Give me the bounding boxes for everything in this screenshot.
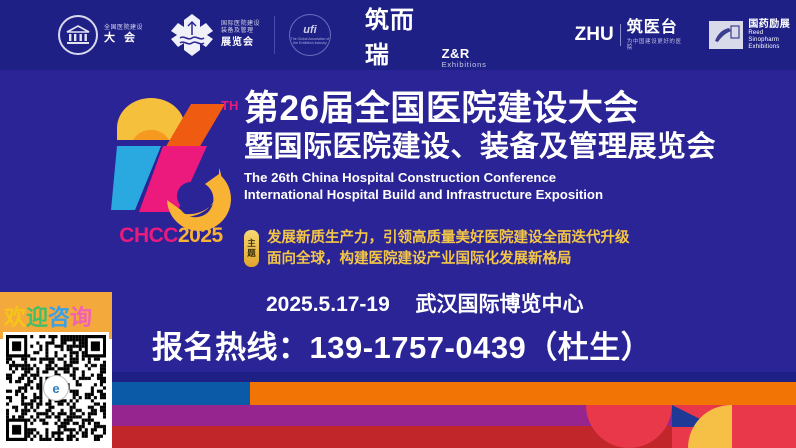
reed-sinopharm-icon bbox=[709, 21, 743, 49]
welcome-char-4: 询 bbox=[70, 305, 92, 330]
main-title-cn-line2: 暨国际医院建设、装备及管理展览会 bbox=[244, 131, 704, 163]
ufi-abbr: ufi bbox=[303, 25, 316, 36]
conference-emblem-line1: 全国医院建设 bbox=[104, 25, 143, 31]
hotline-label: 报名热线： bbox=[152, 330, 310, 365]
date-venue-line: 2025.5.17-19 武汉国际博览中心 bbox=[266, 288, 583, 318]
theme-block: 主 题 发展新质生产力，引领高质量美好医院建设全面迭代升级 面向全球，构建医院建… bbox=[244, 228, 630, 269]
zr-english-main: Z&R bbox=[442, 47, 487, 60]
wechat-qr-code[interactable]: e bbox=[3, 332, 109, 444]
theme-line1: 发展新质生产力，引领高质量美好医院建设全面迭代升级 bbox=[267, 228, 630, 249]
zr-chinese-name: 筑而瑞 bbox=[365, 0, 440, 70]
hotline-number: 139-1757-0439 bbox=[310, 330, 527, 365]
chcc-wordmark: CHCC2025 bbox=[96, 224, 246, 248]
zhu-divider bbox=[620, 24, 621, 46]
svg-text:TH: TH bbox=[221, 98, 238, 113]
welcome-consult-text: 欢迎咨询 bbox=[4, 300, 92, 332]
band-navy bbox=[0, 372, 796, 382]
reed-chinese-name: 国药励展 bbox=[748, 19, 796, 31]
reed-english-line2: Exhibitions bbox=[748, 44, 796, 51]
decorative-color-bands bbox=[0, 372, 796, 448]
main-title-cn-line1: 第26届全国医院建设大会 bbox=[244, 90, 704, 128]
chcc-wordmark-year: 2025 bbox=[178, 224, 223, 247]
ufi-subtitle: The Global Association of the Exhibition… bbox=[290, 37, 330, 46]
partner-logo-conference: 全国医院建设 大 会 bbox=[58, 15, 143, 55]
welcome-char-3: 咨 bbox=[48, 305, 70, 330]
poster-main-area: TH CHCC2025 第26届全国医院建设大会 暨国际医院建设、装备及管理展览… bbox=[0, 70, 796, 372]
partner-logo-bar: 全国医院建设 大 会 国际 bbox=[0, 0, 796, 70]
poster-root: 全国医院建设 大 会 国际 bbox=[0, 0, 796, 448]
qr-center-logo: e bbox=[43, 375, 69, 401]
event-date: 2025.5.17-19 bbox=[266, 293, 390, 316]
partner-divider bbox=[274, 16, 275, 54]
band-segment-orange bbox=[250, 382, 796, 405]
zhu-chinese-name: 筑医台 bbox=[627, 19, 688, 37]
main-title-en-line2: International Hospital Build and Infrast… bbox=[244, 187, 704, 204]
snowflake-icon bbox=[169, 13, 215, 57]
band-row-two bbox=[0, 382, 796, 405]
registration-hotline: 报名热线：139-1757-0439（杜生） bbox=[152, 322, 652, 367]
ufi-icon: ufi The Global Association of the Exhibi… bbox=[289, 14, 331, 56]
title-block: 第26届全国医院建设大会 暨国际医院建设、装备及管理展览会 The 26th C… bbox=[244, 90, 704, 204]
zhu-tagline: 为中国建设更好的医院 bbox=[627, 39, 688, 51]
event-venue: 武汉国际博览中心 bbox=[415, 293, 583, 316]
qr-consult-panel[interactable]: 欢迎咨询 e bbox=[0, 292, 112, 448]
theme-badge-char2: 题 bbox=[247, 249, 256, 259]
chcc-wordmark-letters: CHCC bbox=[119, 224, 178, 247]
theme-line2: 面向全球，构建医院建设产业国际化发展新格局 bbox=[267, 249, 630, 270]
partner-logo-zr: 筑而瑞 Z&R Exhibitions bbox=[365, 0, 487, 70]
reed-english-line1: Reed Sinopharm bbox=[748, 30, 796, 44]
partner-logo-zhuyitai: ZHU 筑医台 为中国建设更好的医院 bbox=[575, 19, 688, 51]
zhu-letters: ZHU bbox=[575, 24, 614, 46]
hotline-contact: （杜生） bbox=[526, 330, 652, 365]
theme-badge: 主 题 bbox=[244, 230, 259, 267]
welcome-char-1: 欢 bbox=[4, 305, 26, 330]
welcome-char-2: 迎 bbox=[26, 305, 48, 330]
zr-english-sub: Exhibitions bbox=[442, 61, 487, 69]
partner-logo-reed-sinopharm: 国药励展 Reed Sinopharm Exhibitions bbox=[709, 19, 796, 51]
conference-emblem-line2: 大 会 bbox=[104, 33, 143, 45]
exhibition-emblem-line2: 装备及管理 bbox=[221, 28, 260, 36]
main-title-en-line1: The 26th China Hospital Construction Con… bbox=[244, 170, 704, 187]
exhibition-emblem-line3: 展览会 bbox=[221, 37, 260, 50]
building-circle-icon bbox=[58, 15, 98, 55]
band-row-four bbox=[0, 426, 796, 448]
qr-center-glyph: e bbox=[52, 381, 59, 396]
partner-logo-exhibition: 国际医院建设 装备及管理 展览会 bbox=[169, 13, 260, 57]
